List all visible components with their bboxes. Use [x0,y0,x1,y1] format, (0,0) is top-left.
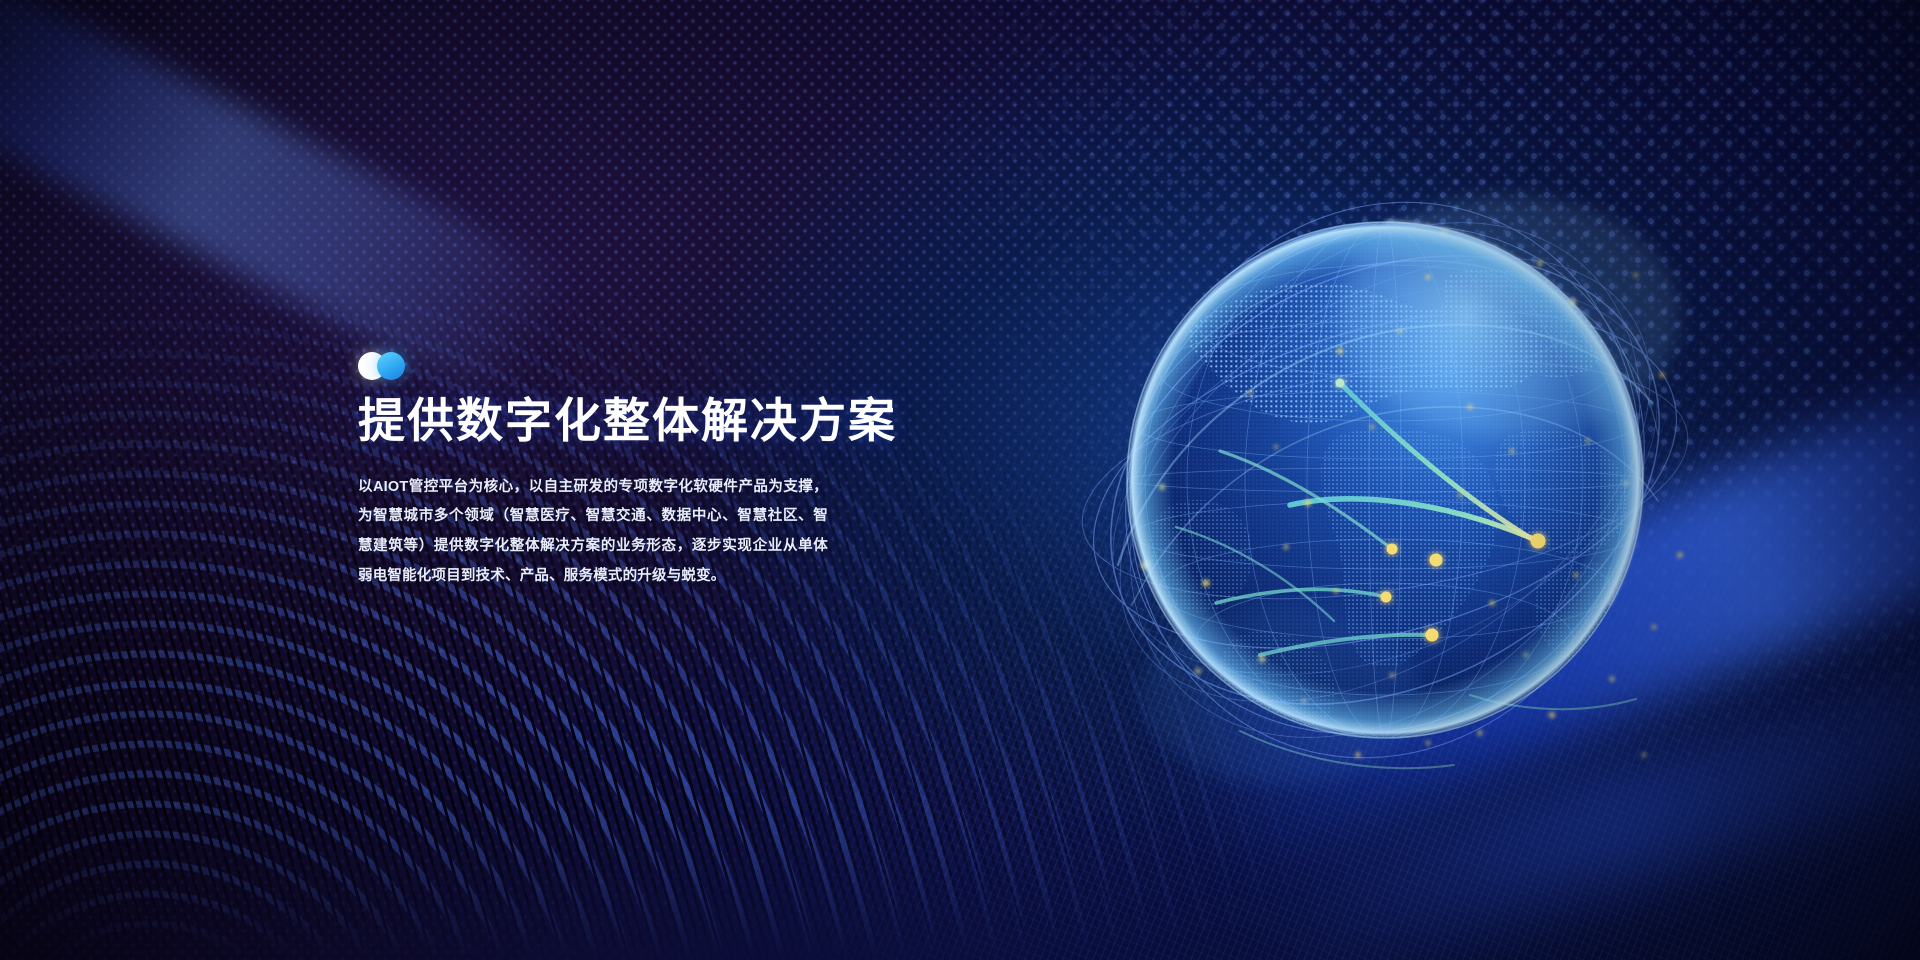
logo-dot-cyan-icon [377,352,405,380]
light-streak-top-left-icon [0,0,576,410]
hero-description: 以AIOT管控平台为核心，以自主研发的专项数字化软硬件产品为支撑，为智慧城市多个… [358,473,828,592]
hero-content: 提供数字化整体解决方案 以AIOT管控平台为核心，以自主研发的专项数字化软硬件产… [358,352,958,592]
page-title: 提供数字化整体解决方案 [358,396,958,447]
hero-banner: 提供数字化整体解决方案 以AIOT管控平台为核心，以自主研发的专项数字化软硬件产… [0,0,1920,960]
two-overlapping-circles-logo-icon [358,352,424,380]
digital-earth-globe [1040,135,1730,825]
